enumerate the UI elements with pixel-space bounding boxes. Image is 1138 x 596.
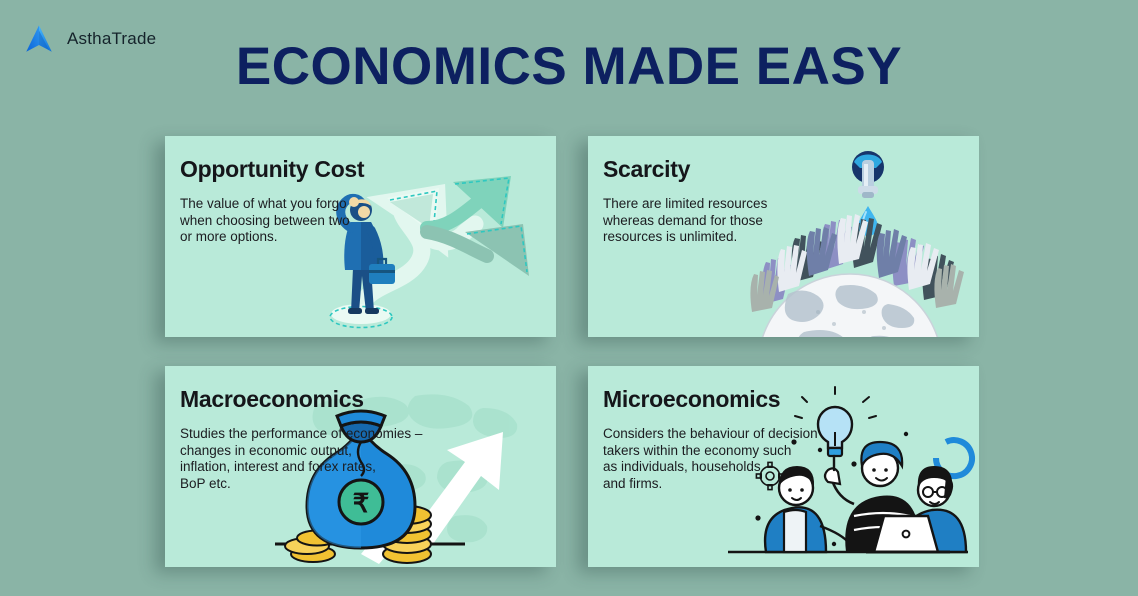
page-title: ECONOMICS MADE EASY bbox=[0, 36, 1138, 97]
person-right bbox=[904, 466, 966, 552]
gear-icon-right bbox=[875, 443, 894, 462]
card-title: Opportunity Cost bbox=[180, 156, 364, 183]
raised-hands bbox=[750, 214, 964, 312]
card-scarcity[interactable]: Scarcity There are limited resources whe… bbox=[588, 136, 979, 337]
card-opportunity-cost[interactable]: Opportunity Cost The value of what you f… bbox=[165, 136, 556, 337]
card-body: Considers the behaviour of decision take… bbox=[603, 426, 818, 492]
faucet-icon bbox=[852, 151, 884, 236]
donut-chart-icon bbox=[936, 440, 972, 476]
person-center bbox=[825, 442, 920, 552]
coin-stack-left bbox=[285, 531, 337, 563]
card-microeconomics[interactable]: Microeconomics Considers the behaviour o… bbox=[588, 366, 979, 567]
card-body: There are limited resources whereas dema… bbox=[603, 196, 767, 246]
card-macroeconomics[interactable]: ₹ Macroeconomics Studies the performance… bbox=[165, 366, 556, 567]
svg-text:₹: ₹ bbox=[353, 488, 370, 518]
coin-stack-right bbox=[383, 506, 431, 563]
card-body: The value of what you forgo when choosin… bbox=[180, 196, 350, 246]
card-body: Studies the performance of economies – c… bbox=[180, 426, 422, 492]
card-title: Macroeconomics bbox=[180, 386, 364, 413]
concept-card-grid: Opportunity Cost The value of what you f… bbox=[165, 136, 979, 568]
card-title: Scarcity bbox=[603, 156, 690, 183]
laptop-icon bbox=[866, 516, 950, 552]
card-title: Microeconomics bbox=[603, 386, 780, 413]
globe-icon bbox=[758, 274, 942, 337]
